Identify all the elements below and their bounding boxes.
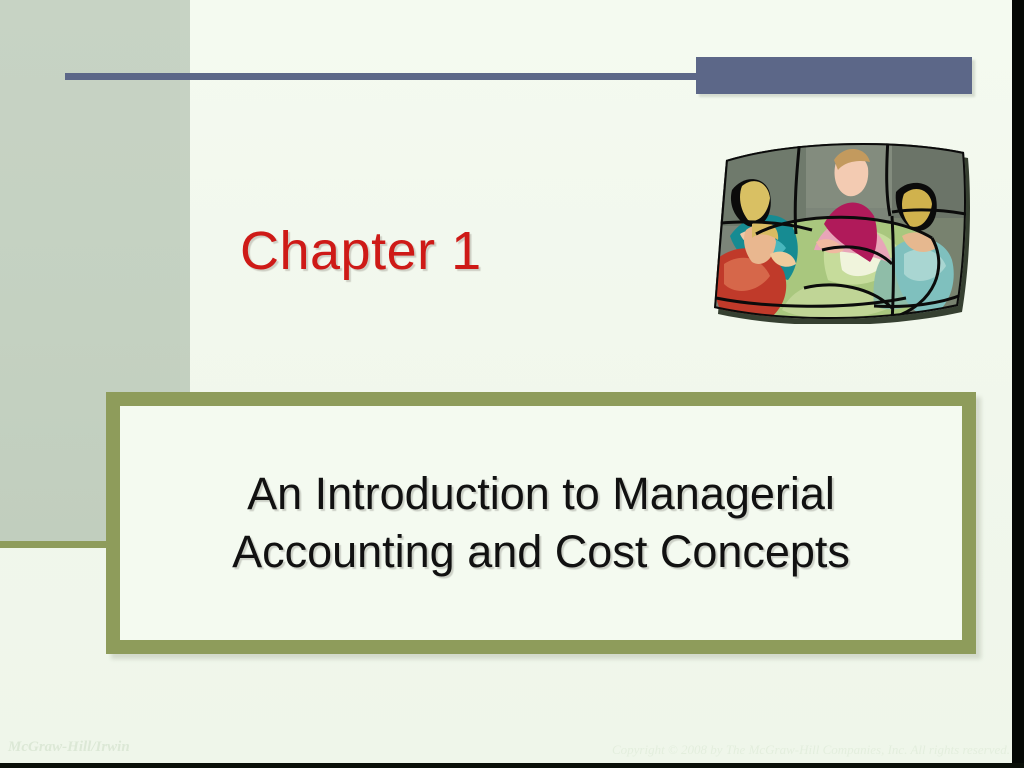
slide-right-edge xyxy=(1012,0,1024,768)
left-panel-olive-rule xyxy=(0,541,107,548)
top-accent-block xyxy=(696,57,972,94)
presentation-slide: Chapter 1 xyxy=(0,0,1024,768)
top-horizontal-rule xyxy=(65,73,705,80)
footer-publisher: McGraw-Hill/Irwin xyxy=(8,739,130,756)
chapter-heading: Chapter 1 xyxy=(240,219,482,283)
slide-bottom-edge xyxy=(0,763,1024,768)
people-around-table-icon xyxy=(696,138,976,324)
slide-subtitle: An Introduction to Managerial Accounting… xyxy=(120,392,962,654)
footer-copyright: Copyright © 2008 by The McGraw-Hill Comp… xyxy=(612,742,1010,758)
